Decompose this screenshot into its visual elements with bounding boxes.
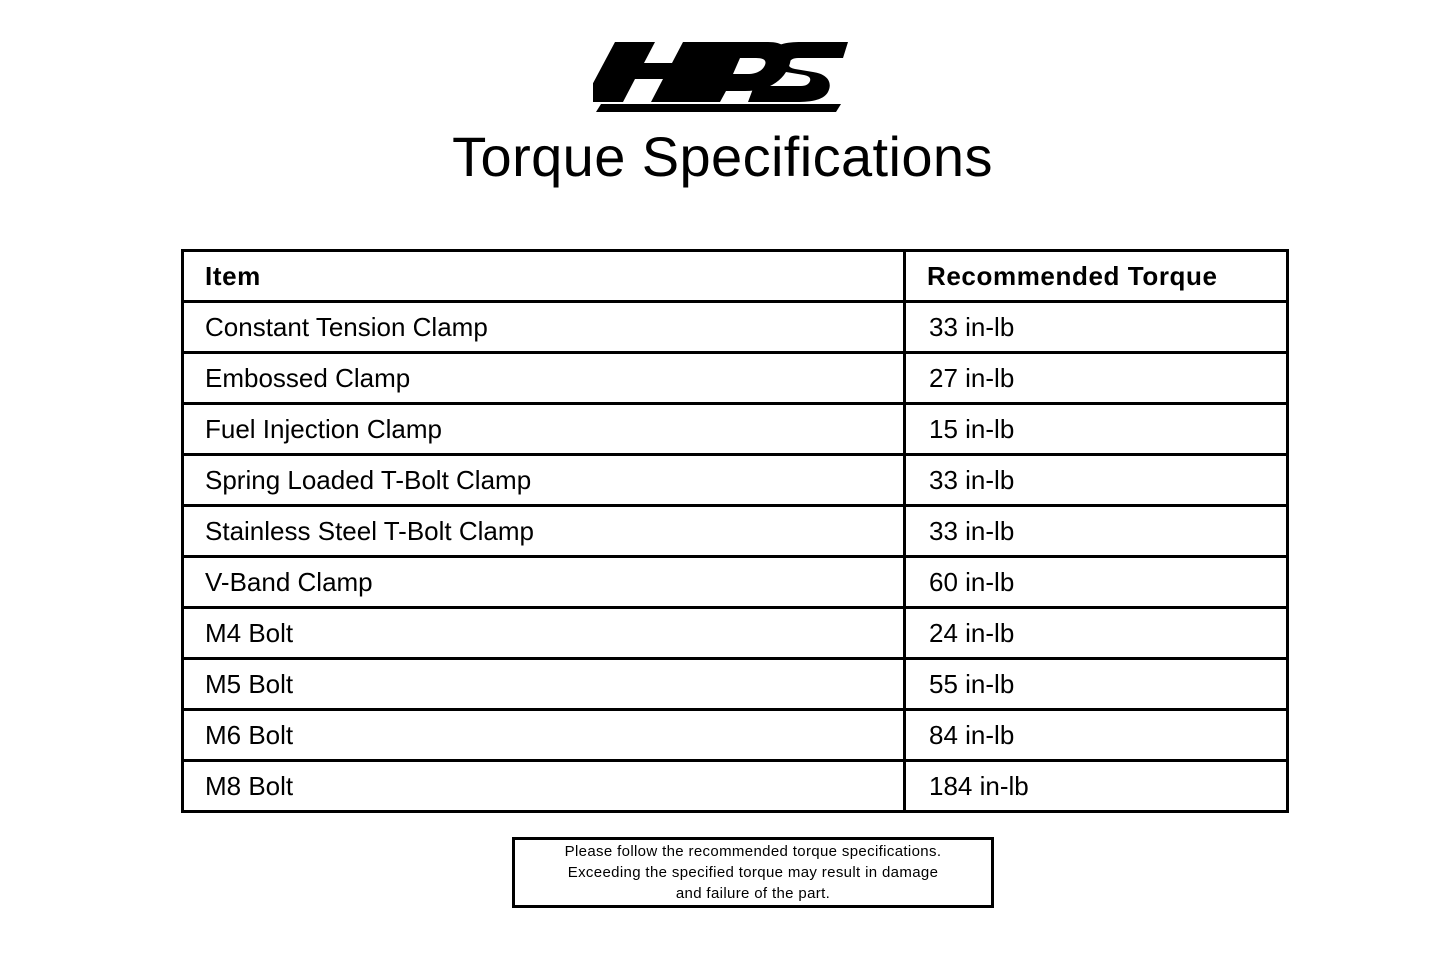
note-line: Please follow the recommended torque spe… xyxy=(565,841,942,862)
cell-torque: 24 in-lb xyxy=(905,608,1288,659)
cell-torque: 33 in-lb xyxy=(905,302,1288,353)
cell-torque: 55 in-lb xyxy=(905,659,1288,710)
cell-torque: 84 in-lb xyxy=(905,710,1288,761)
torque-spec-table: Item Recommended Torque Constant Tension… xyxy=(181,249,1289,813)
note-line: and failure of the part. xyxy=(676,883,830,904)
table-row: M5 Bolt 55 in-lb xyxy=(183,659,1288,710)
table-row: Stainless Steel T-Bolt Clamp 33 in-lb xyxy=(183,506,1288,557)
table-row: Spring Loaded T-Bolt Clamp 33 in-lb xyxy=(183,455,1288,506)
brand-logo-inner xyxy=(593,32,853,112)
note-line: Exceeding the specified torque may resul… xyxy=(568,862,939,883)
table-row: Constant Tension Clamp 33 in-lb xyxy=(183,302,1288,353)
cell-torque: 33 in-lb xyxy=(905,455,1288,506)
column-header-recommended-torque: Recommended Torque xyxy=(905,251,1288,302)
cell-item: M6 Bolt xyxy=(183,710,905,761)
brand-logo xyxy=(0,32,1445,112)
cell-torque: 60 in-lb xyxy=(905,557,1288,608)
table-row: V-Band Clamp 60 in-lb xyxy=(183,557,1288,608)
table-row: M4 Bolt 24 in-lb xyxy=(183,608,1288,659)
cell-item: Stainless Steel T-Bolt Clamp xyxy=(183,506,905,557)
cell-item: M5 Bolt xyxy=(183,659,905,710)
cell-item: Spring Loaded T-Bolt Clamp xyxy=(183,455,905,506)
cell-torque: 33 in-lb xyxy=(905,506,1288,557)
cell-item: V-Band Clamp xyxy=(183,557,905,608)
table-row: M8 Bolt 184 in-lb xyxy=(183,761,1288,812)
table-row: Embossed Clamp 27 in-lb xyxy=(183,353,1288,404)
hps-logo-icon xyxy=(593,32,853,112)
cell-item: Constant Tension Clamp xyxy=(183,302,905,353)
table-row: Fuel Injection Clamp 15 in-lb xyxy=(183,404,1288,455)
column-header-item: Item xyxy=(183,251,905,302)
cell-item: Embossed Clamp xyxy=(183,353,905,404)
warning-note-box: Please follow the recommended torque spe… xyxy=(512,837,994,908)
table-row: M6 Bolt 84 in-lb xyxy=(183,710,1288,761)
cell-torque: 15 in-lb xyxy=(905,404,1288,455)
cell-torque: 184 in-lb xyxy=(905,761,1288,812)
cell-item: Fuel Injection Clamp xyxy=(183,404,905,455)
cell-item: M4 Bolt xyxy=(183,608,905,659)
cell-torque: 27 in-lb xyxy=(905,353,1288,404)
page-title: Torque Specifications xyxy=(0,128,1445,187)
table-header-row: Item Recommended Torque xyxy=(183,251,1288,302)
cell-item: M8 Bolt xyxy=(183,761,905,812)
